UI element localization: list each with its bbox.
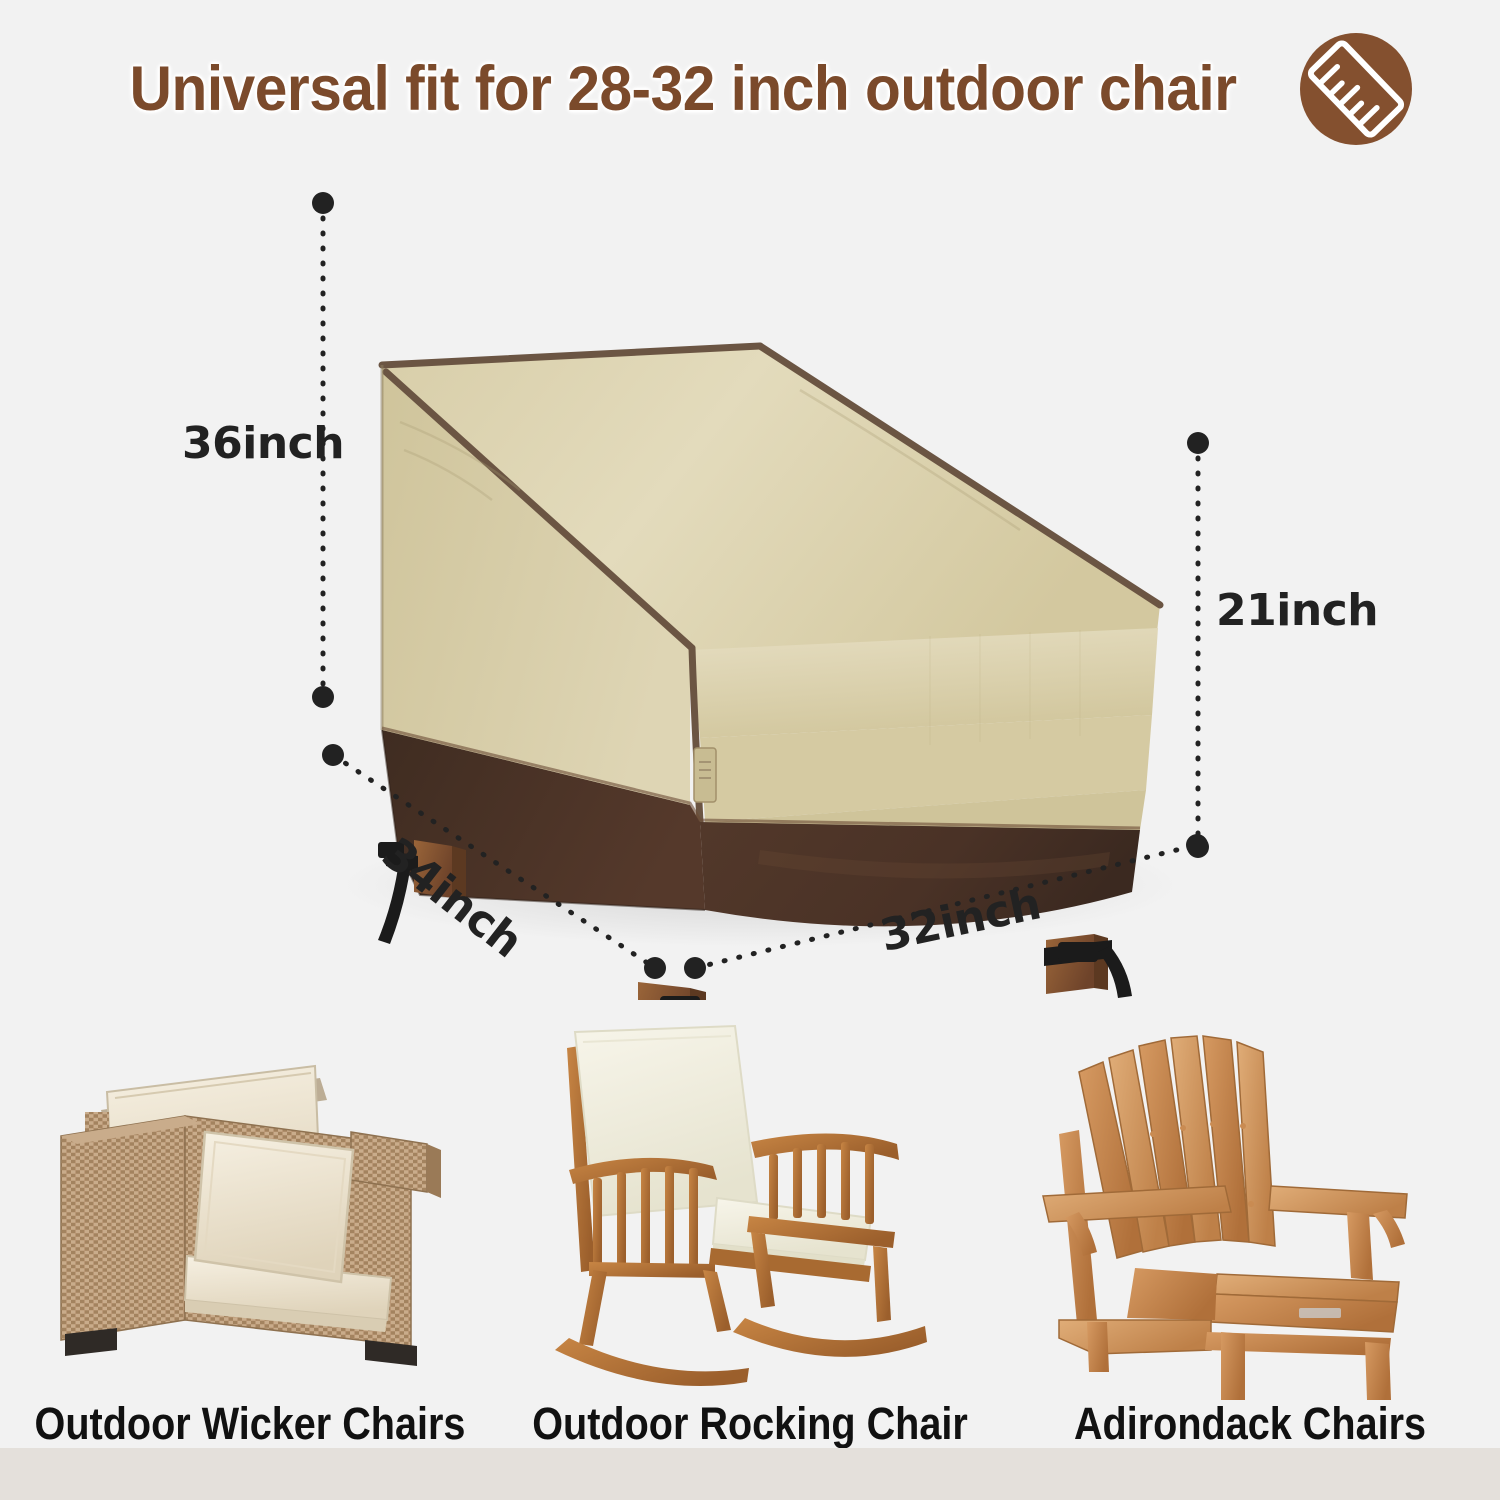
thumbnail-wicker-chair <box>0 1000 500 1400</box>
thumbnail-rocking-chair <box>500 1000 1000 1400</box>
thumbnail-adirondack-chair <box>1000 1000 1500 1400</box>
infographic-canvas: Universal fit for 28-32 inch outdoor cha… <box>0 0 1500 1500</box>
dimension-label-seat-height: 21inch <box>1216 585 1378 636</box>
ruler-icon <box>1300 33 1412 145</box>
caption-rocking-chair: Outdoor Rocking Chair <box>530 1393 970 1455</box>
product-illustration <box>0 150 1500 1000</box>
dimension-label-height: 36inch <box>182 418 344 469</box>
caption-adirondack-chair: Adirondack Chairs <box>1030 1393 1470 1455</box>
chair-captions: Outdoor Wicker Chairs Outdoor Rocking Ch… <box>0 1393 1500 1455</box>
compatible-chairs-row <box>0 1000 1500 1400</box>
footer-band <box>0 1448 1500 1500</box>
caption-wicker-chair: Outdoor Wicker Chairs <box>30 1393 470 1455</box>
header: Universal fit for 28-32 inch outdoor cha… <box>0 34 1500 144</box>
page-title: Universal fit for 28-32 inch outdoor cha… <box>130 53 1237 125</box>
